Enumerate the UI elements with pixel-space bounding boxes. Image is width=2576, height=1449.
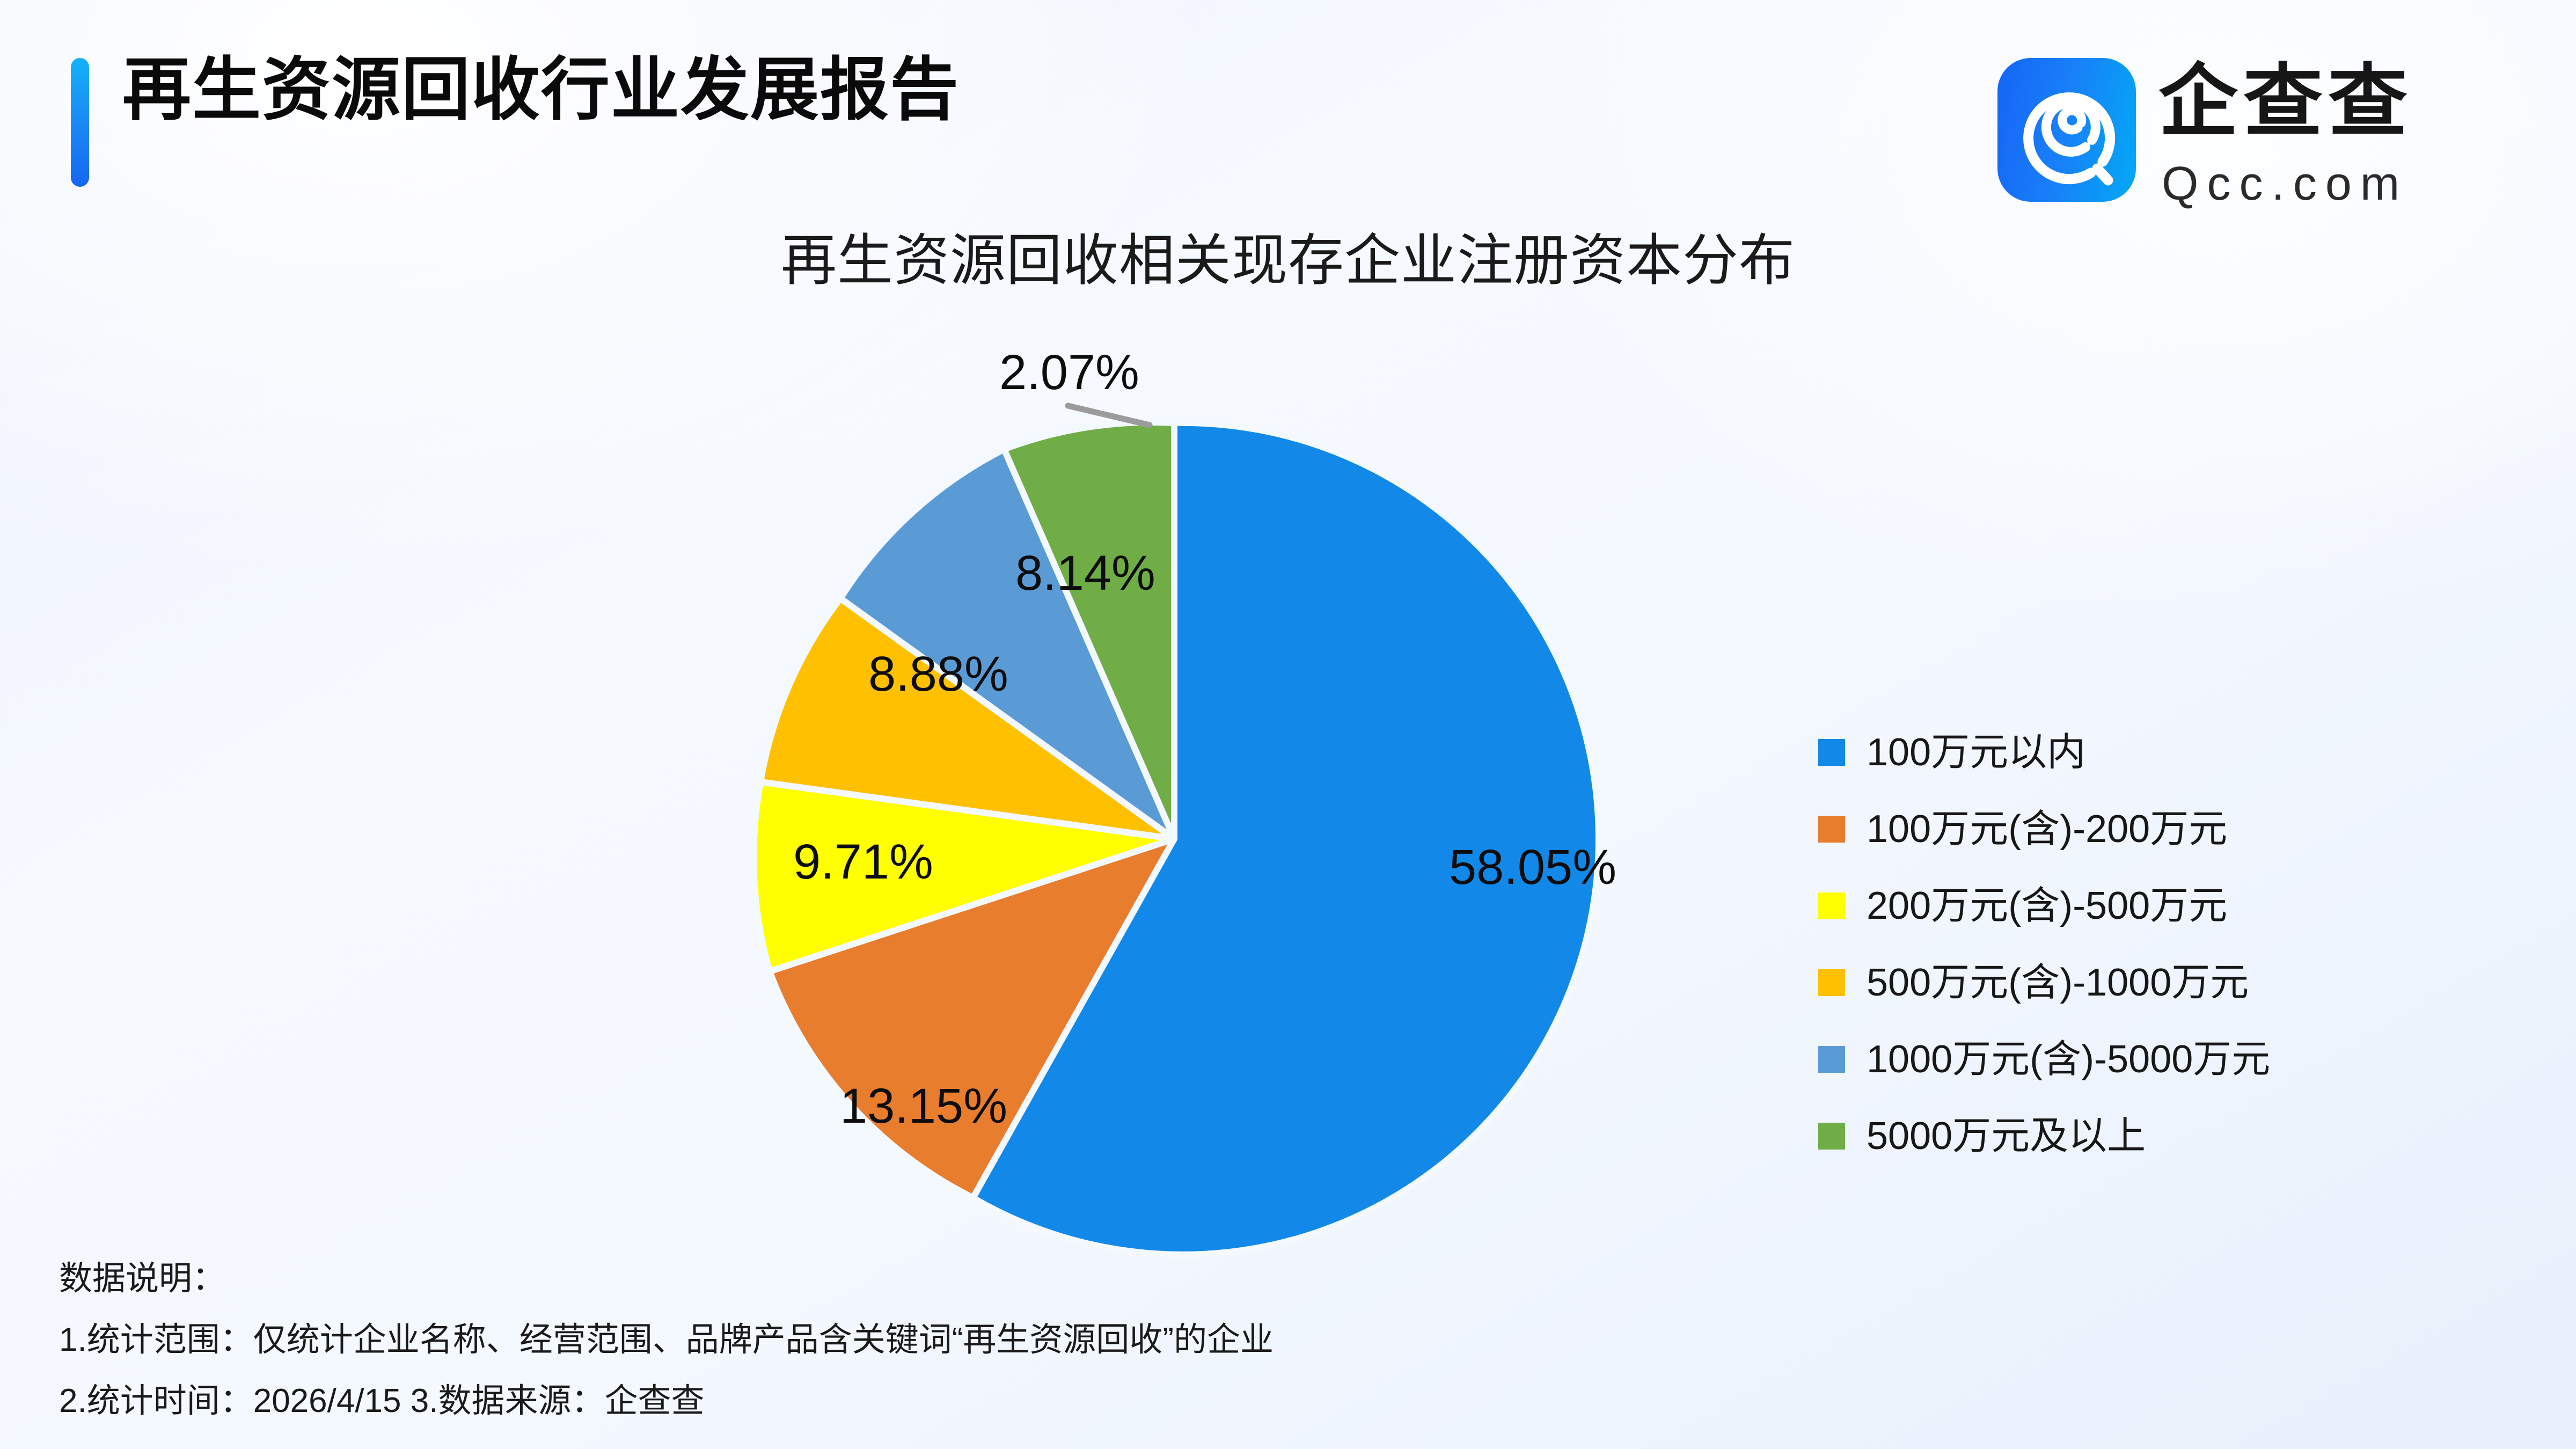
- legend-swatch-icon: [1818, 1123, 1845, 1150]
- legend-item-5[interactable]: 5000万元及以上: [1818, 1097, 2270, 1174]
- chart-legend: 100万元以内 100万元(含)-200万元 200万元(含)-500万元 50…: [1818, 714, 2270, 1174]
- legend-item-label: 100万元以内: [1867, 733, 2085, 772]
- legend-item-0[interactable]: 100万元以内: [1818, 714, 2270, 791]
- legend-item-3[interactable]: 500万元(含)-1000万元: [1818, 944, 2270, 1021]
- brand-logo: 企查查 Qcc.com: [1997, 58, 2470, 208]
- footnotes: 数据说明： 1.统计范围：仅统计企业名称、经营范围、品牌产品含关键词“再生资源回…: [59, 1262, 1991, 1446]
- legend-item-4[interactable]: 1000万元(含)-5000万元: [1818, 1021, 2270, 1097]
- legend-item-1[interactable]: 100万元(含)-200万元: [1818, 791, 2270, 867]
- legend-item-label: 500万元(含)-1000万元: [1867, 963, 2249, 1002]
- pie-slice-label-0: 58.05%: [1449, 843, 1616, 892]
- legend-swatch-icon: [1818, 816, 1845, 843]
- pie-slice-label-4: 8.14%: [1015, 548, 1155, 598]
- pie-chart: 58.05% 13.15% 9.71% 8.88% 8.14% 2.07%: [633, 301, 1717, 1385]
- legend-swatch-icon: [1818, 1046, 1845, 1073]
- page-title: 再生资源回收行业发展报告: [122, 56, 960, 125]
- report-canvas: 再生资源回收行业发展报告 企查查 Qcc.com 再生资源回收相关现存企业注册资…: [0, 0, 2576, 1449]
- legend-item-label: 200万元(含)-500万元: [1867, 887, 2227, 925]
- footnote-heading: 数据说明：: [59, 1262, 1991, 1296]
- legend-item-2[interactable]: 200万元(含)-500万元: [1818, 867, 2270, 944]
- brand-wordmark-domain: Qcc.com: [2162, 160, 2408, 207]
- legend-swatch-icon: [1818, 969, 1845, 996]
- pie-slice-label-5: 2.07%: [999, 348, 1139, 397]
- chart-title: 再生资源回收相关现存企业注册资本分布: [0, 215, 2576, 296]
- legend-swatch-icon: [1818, 739, 1845, 766]
- footnote-scope: 1.统计范围：仅统计企业名称、经营范围、品牌产品含关键词“再生资源回收”的企业: [59, 1323, 1991, 1357]
- qcc-spiral-q-icon: [1997, 58, 2136, 202]
- brand-wordmark-cn: 企查查: [2158, 62, 2413, 142]
- legend-item-label: 100万元(含)-200万元: [1867, 810, 2227, 848]
- pie-slice-label-2: 9.71%: [793, 837, 933, 887]
- pie-slice-label-1: 13.15%: [840, 1081, 1007, 1131]
- footnote-time-source: 2.统计时间：2026/4/15 3.数据来源：企查查: [59, 1385, 1991, 1418]
- pie-slice-label-3: 8.88%: [868, 649, 1008, 699]
- legend-item-label: 5000万元及以上: [1867, 1117, 2146, 1155]
- title-accent-bar: [71, 58, 89, 187]
- legend-swatch-icon: [1818, 892, 1845, 919]
- legend-item-label: 1000万元(含)-5000万元: [1867, 1040, 2270, 1079]
